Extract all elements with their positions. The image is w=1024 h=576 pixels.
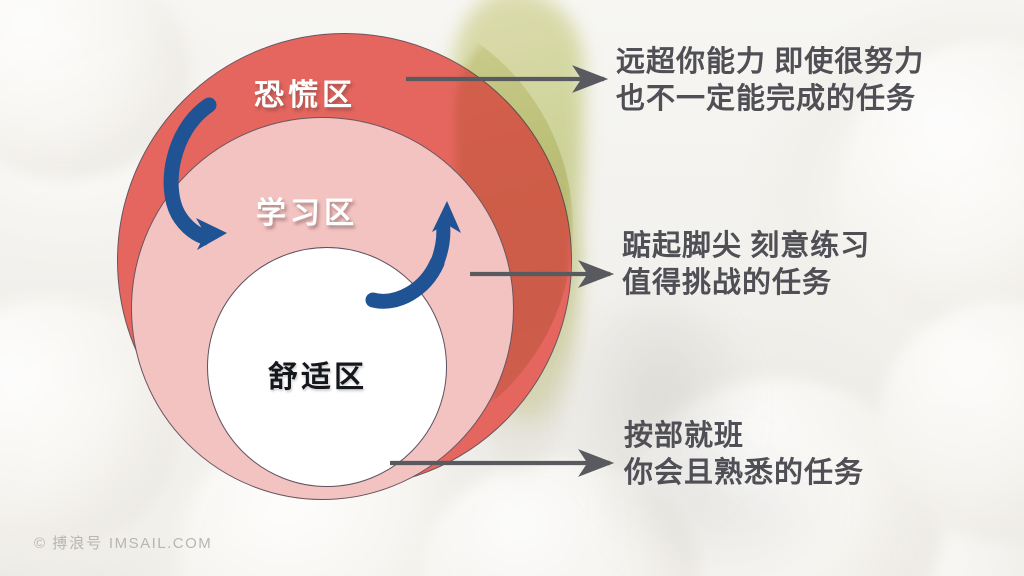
watermark-site-url: IMSAIL.COM xyxy=(109,535,212,552)
watermark: © 搏浪号 IMSAIL.COM xyxy=(34,532,212,553)
callout-panic: 远超你能力 即使很努力 也不一定能完成的任务 xyxy=(616,44,924,118)
copyright-icon: © xyxy=(34,535,47,552)
callout-panic-line2: 也不一定能完成的任务 xyxy=(616,81,924,118)
slide-canvas: 恐慌区 学习区 舒适区 远超你能力 即使很努力 也不一定能完成 xyxy=(0,0,1024,576)
zone-label-learning: 学习区 xyxy=(256,188,358,232)
zone-label-panic: 恐慌区 xyxy=(254,70,356,114)
watermark-site-name: 搏浪号 xyxy=(52,535,103,552)
zone-label-comfort: 舒适区 xyxy=(268,352,367,396)
callout-learning-line1: 踮起脚尖 刻意练习 xyxy=(622,228,870,265)
callout-learning-line2: 值得挑战的任务 xyxy=(622,265,870,302)
callout-panic-line1: 远超你能力 即使很努力 xyxy=(616,44,924,81)
callout-comfort-line2: 你会且熟悉的任务 xyxy=(624,455,864,492)
callout-comfort: 按部就班 你会且熟悉的任务 xyxy=(624,418,864,492)
callout-learning: 踮起脚尖 刻意练习 值得挑战的任务 xyxy=(622,228,870,302)
callout-comfort-line1: 按部就班 xyxy=(624,418,864,455)
